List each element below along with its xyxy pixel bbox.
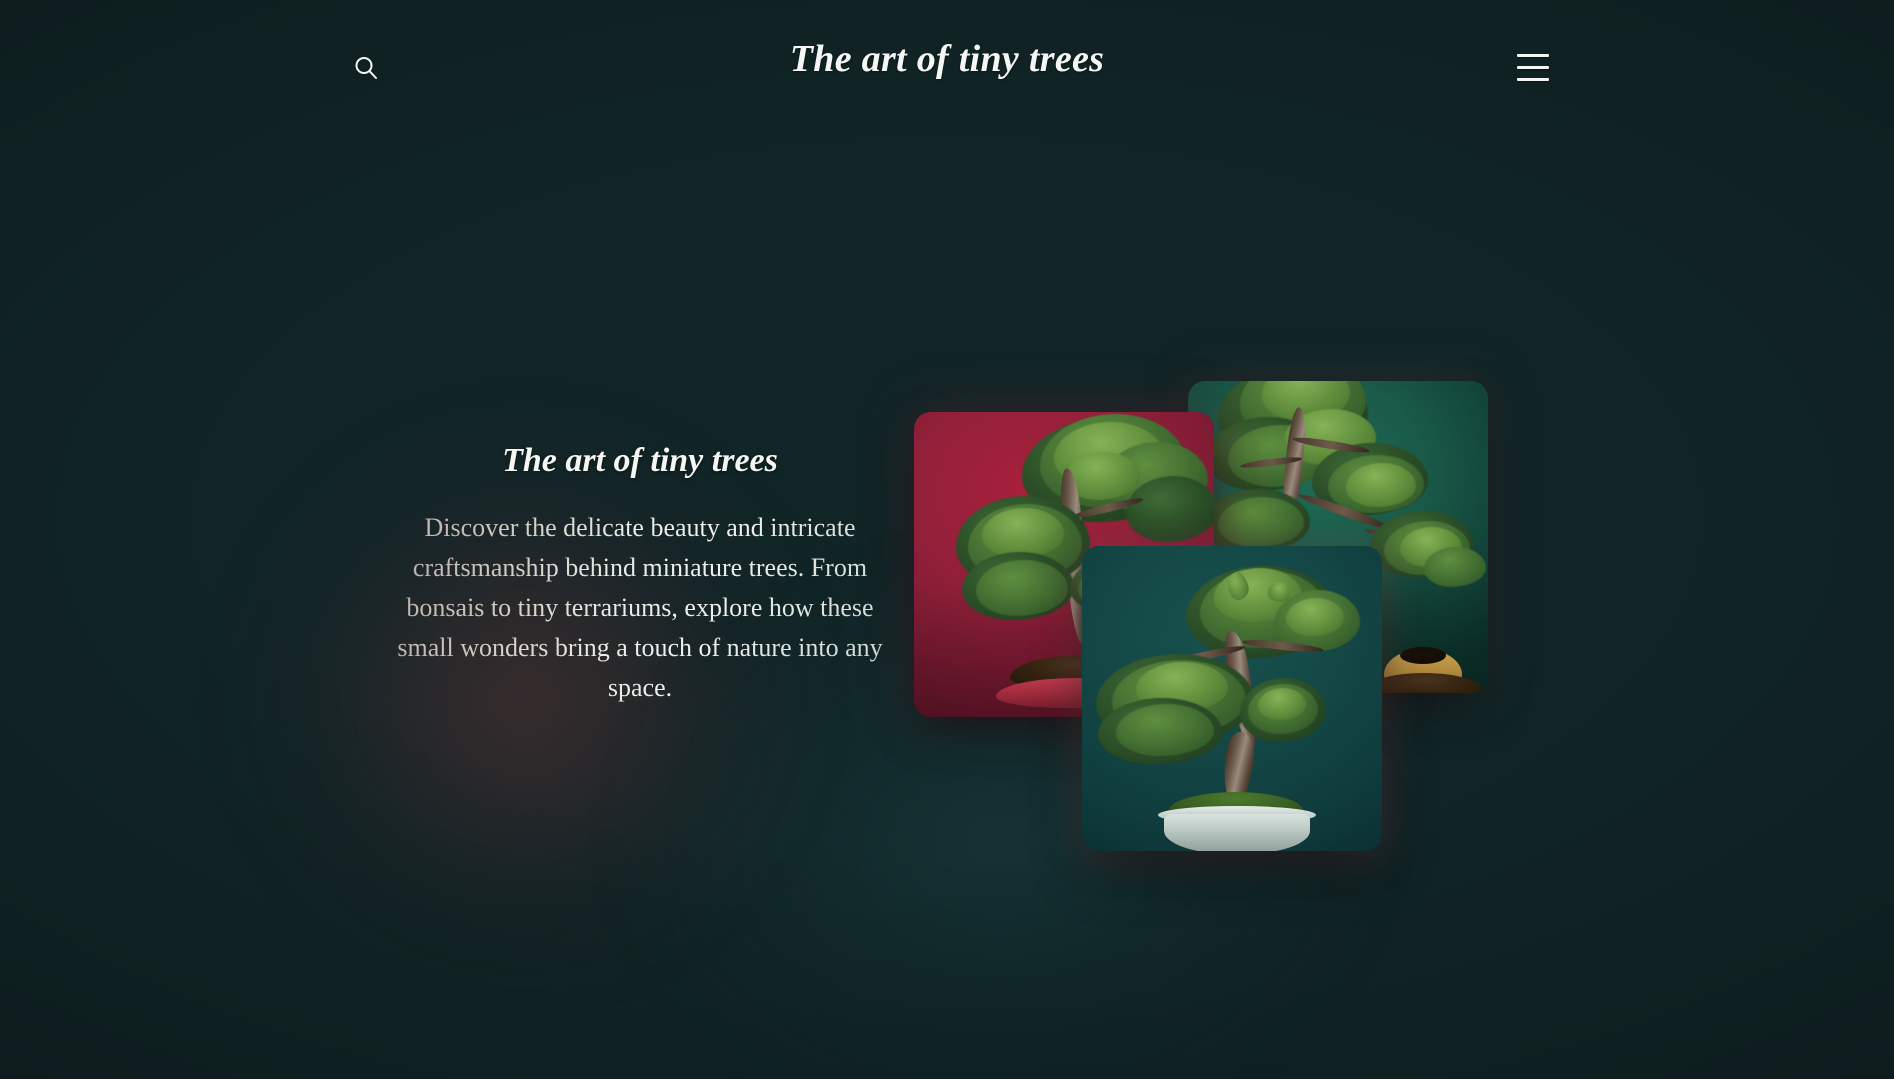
hamburger-menu-icon-bar-2	[1517, 66, 1549, 69]
page-root: The art of tiny trees Discover the delic…	[0, 0, 1894, 1079]
hamburger-menu-icon-bar-1	[1517, 54, 1549, 57]
hamburger-menu-button[interactable]	[1508, 44, 1558, 90]
gallery-card-bonsai-on-teal-background[interactable]	[1082, 546, 1382, 851]
hero-copy-block: The art of tiny trees Discover the delic…	[395, 440, 885, 708]
hero-body-text: Discover the delicate beauty and intrica…	[395, 508, 885, 708]
hero-section: The art of tiny trees Discover the delic…	[0, 0, 1894, 1079]
site-title: The art of tiny trees	[0, 36, 1894, 82]
hero-heading: The art of tiny trees	[395, 440, 885, 482]
bonsai-teal-scene	[1082, 546, 1382, 851]
site-header: The art of tiny trees	[0, 0, 1894, 126]
hero-image-gallery	[900, 370, 1520, 890]
hamburger-menu-icon-bar-3	[1517, 78, 1549, 81]
